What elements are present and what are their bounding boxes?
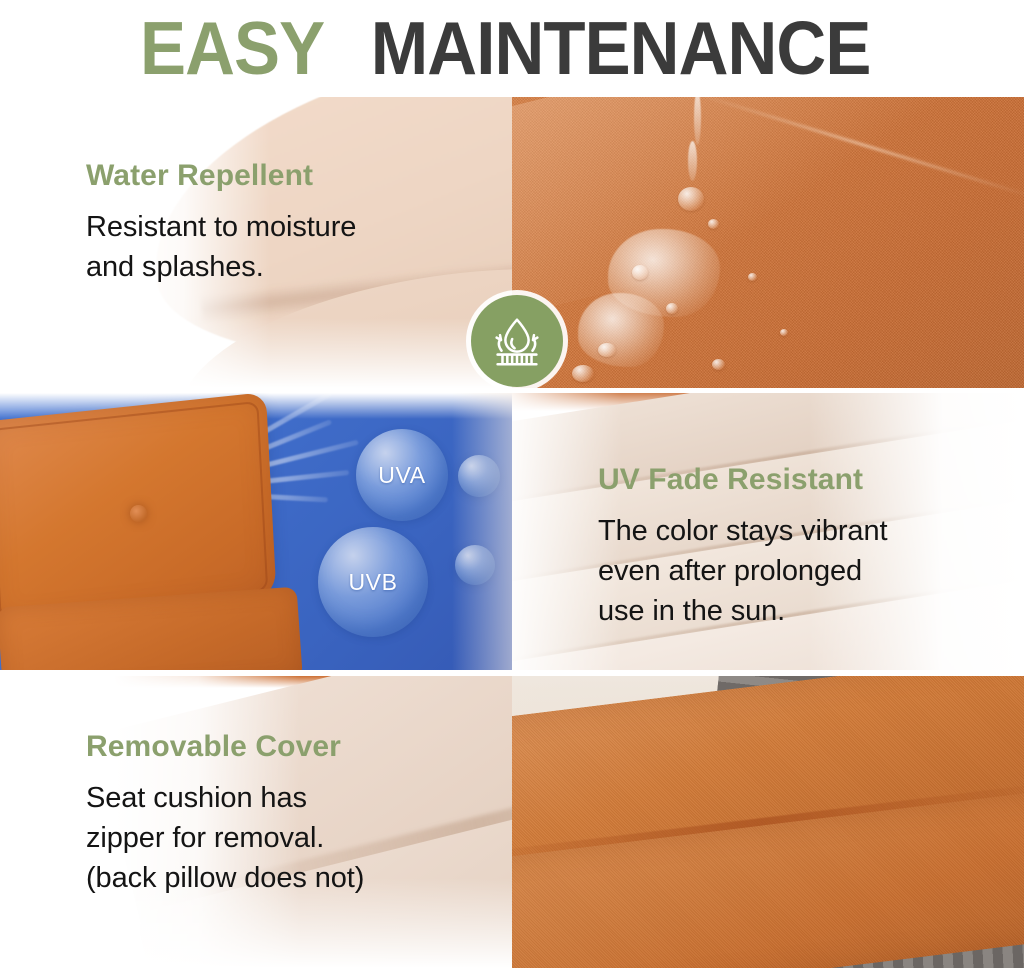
uvb-bubble: UVB	[318, 527, 428, 637]
feature-body-line: (back pillow does not)	[86, 858, 364, 898]
orange-chair-cushion	[0, 401, 308, 669]
feature-row-water-repellent: Water Repellent Resistant to moisture an…	[0, 97, 1024, 388]
title-main-word: MAINTENANCE	[370, 11, 870, 86]
feature-title: UV Fade Resistant	[598, 465, 887, 495]
feature-body-line: and splashes.	[86, 247, 356, 287]
feature-body-line: The color stays vibrant	[598, 511, 887, 551]
feature-row-uv-fade-resistant: UVA UVB	[0, 393, 1024, 670]
feature-body-line: use in the sun.	[598, 591, 887, 631]
feature-text-water-repellent: Water Repellent Resistant to moisture an…	[86, 161, 356, 287]
page-title: EASY MAINTENANCE	[0, 0, 1024, 96]
feature-body-line: even after prolonged	[598, 551, 887, 591]
uv-sunlight-panel: UVA UVB	[0, 393, 512, 670]
feature-row-removable-cover: Removable Cover Seat cushion has zipper …	[0, 676, 1024, 968]
uvb-label: UVB	[348, 569, 397, 596]
feature-body-line: Seat cushion has	[86, 778, 364, 818]
infographic-page: EASY MAINTENANCE	[0, 0, 1024, 968]
title-accent-word: EASY	[140, 11, 324, 86]
water-droplet-repellent-icon	[471, 295, 563, 387]
feature-title: Water Repellent	[86, 161, 356, 191]
uva-bubble: UVA	[356, 429, 448, 521]
zipper-cushion-photo	[512, 676, 1024, 968]
feature-text-removable-cover: Removable Cover Seat cushion has zipper …	[86, 732, 364, 898]
feature-body-line: zipper for removal.	[86, 818, 364, 858]
feature-body-line: Resistant to moisture	[86, 207, 356, 247]
feature-title: Removable Cover	[86, 732, 364, 762]
water-droplet-fabric-photo	[512, 97, 1024, 388]
uva-label: UVA	[378, 462, 425, 489]
feature-text-uv-fade-resistant: UV Fade Resistant The color stays vibran…	[598, 465, 887, 631]
